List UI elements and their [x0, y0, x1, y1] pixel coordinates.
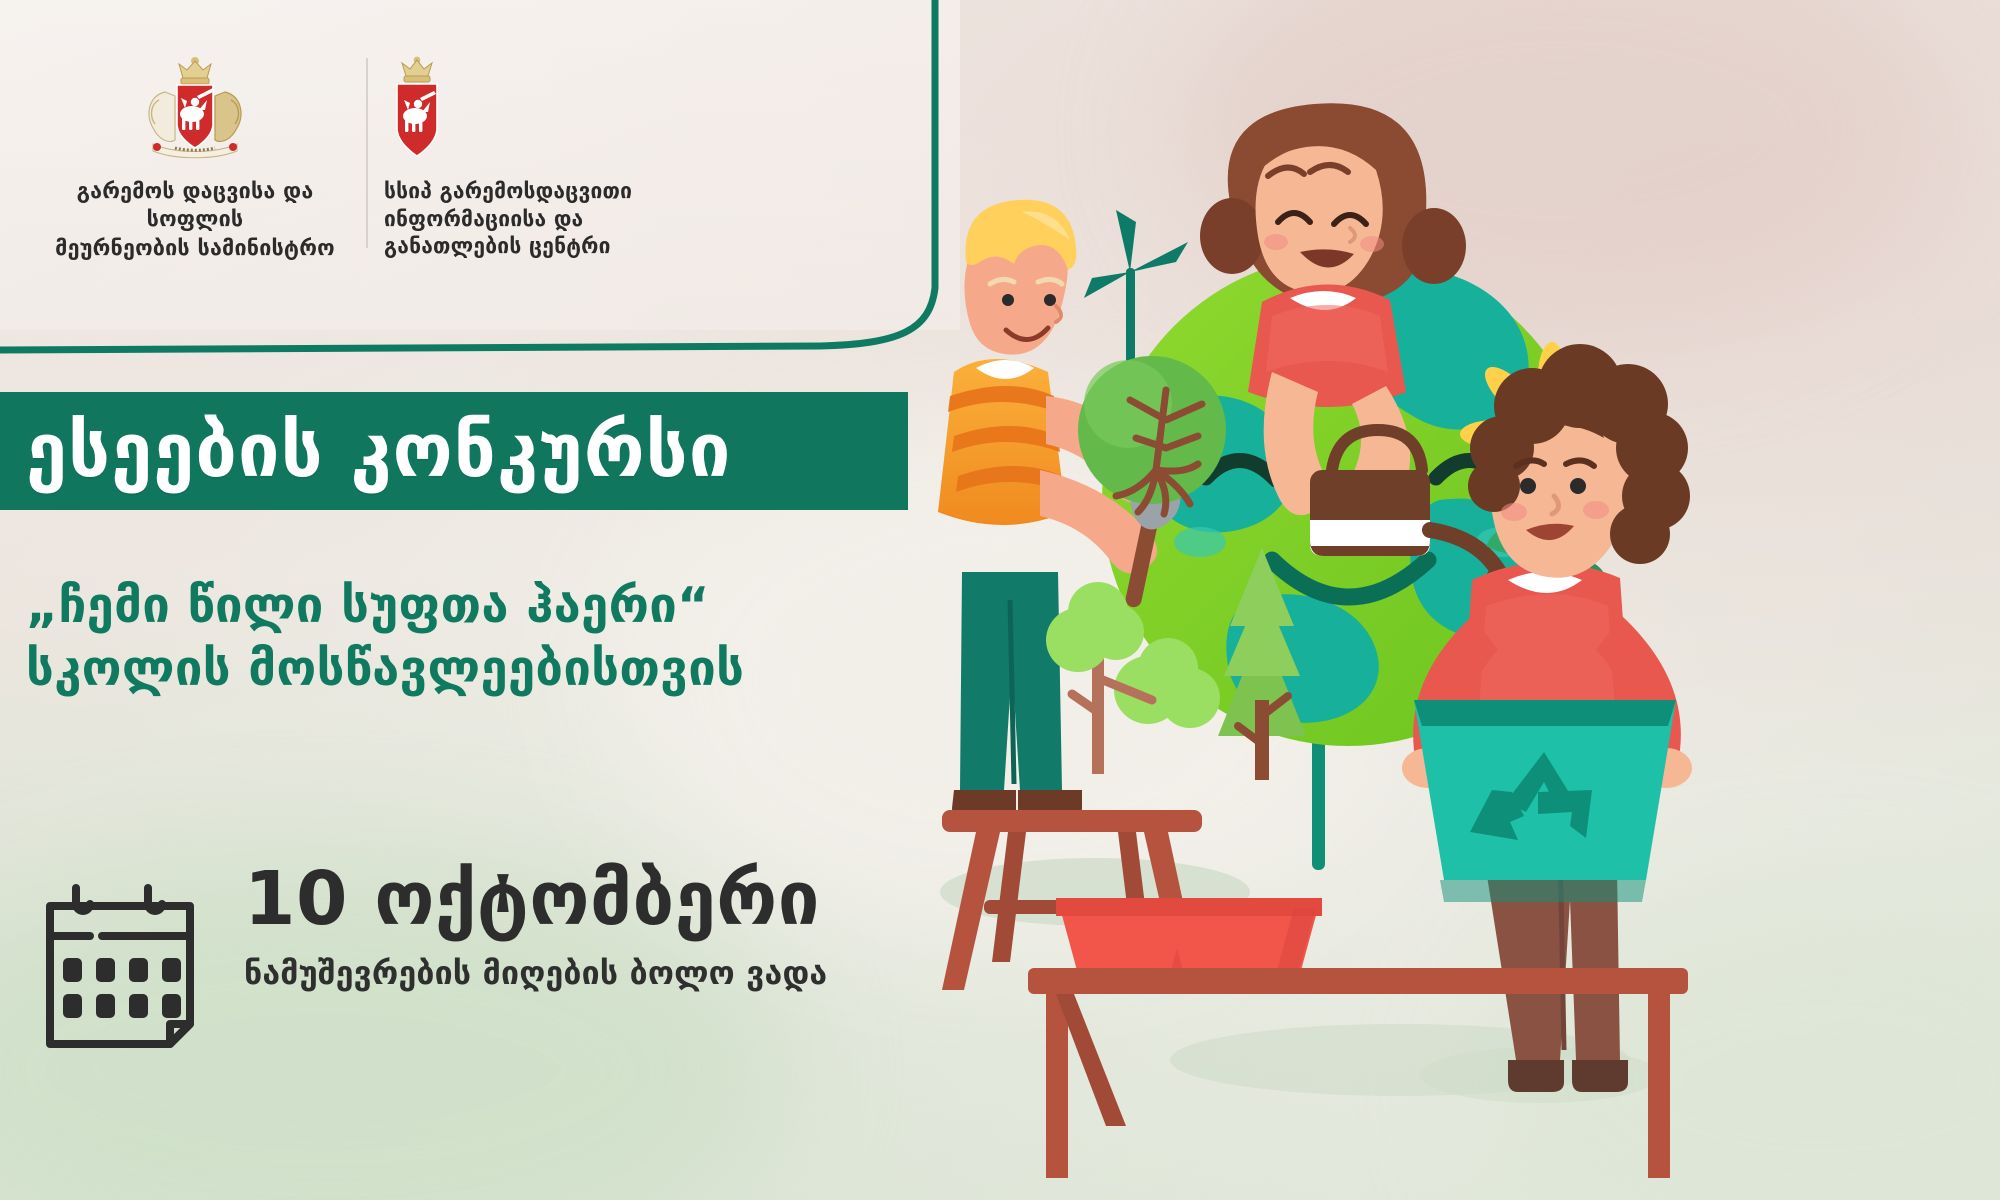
logo-center-label: სსიპ გარემოსდაცვითი ინფორმაციისა და განა…	[380, 178, 680, 261]
logo-center: სსიპ გარემოსდაცვითი ინფორმაციისა და განა…	[380, 52, 680, 261]
deadline-note: ნამუშევრების მიღების ბოლო ვადა	[244, 954, 827, 992]
deadline-date: 10 ოქტომბერი	[244, 862, 827, 936]
recycling-bin	[1414, 700, 1676, 902]
georgia-coat-of-arms-shield-icon	[384, 52, 450, 164]
logo-ministry-label: გარემოს დაცვისა და სოფლის მეურნეობის სამ…	[30, 178, 360, 263]
georgia-coat-of-arms-full-icon	[135, 52, 255, 164]
potted-saplings	[1056, 898, 1322, 974]
header-divider	[366, 58, 368, 248]
logo-ministry: გარემოს დაცვისა და სოფლის მეურნეობის სამ…	[30, 52, 360, 263]
subtitle-block: „ჩემი წილი სუფთა ჰაერი“ სკოლის მოსწავლეე…	[26, 575, 986, 700]
subtitle-theme: „ჩემი წილი სუფთა ჰაერი“	[26, 577, 710, 634]
deadline-text: 10 ოქტომბერი ნამუშევრების მიღების ბოლო ვ…	[244, 862, 827, 992]
children-planting-earth-illustration	[880, 0, 2000, 1200]
deadline-block: 10 ოქტომბერი ნამუშევრების მიღების ბოლო ვ…	[26, 862, 1026, 1062]
subtitle-audience: სკოლის მოსწავლეებისთვის	[26, 638, 986, 701]
title-banner: ესეების კონკურსი	[0, 392, 908, 510]
page-title: ესეების კონკურსი	[0, 414, 731, 488]
poster-root: გარემოს დაცვისა და სოფლის მეურნეობის სამ…	[0, 0, 2000, 1200]
calendar-icon	[30, 874, 210, 1054]
